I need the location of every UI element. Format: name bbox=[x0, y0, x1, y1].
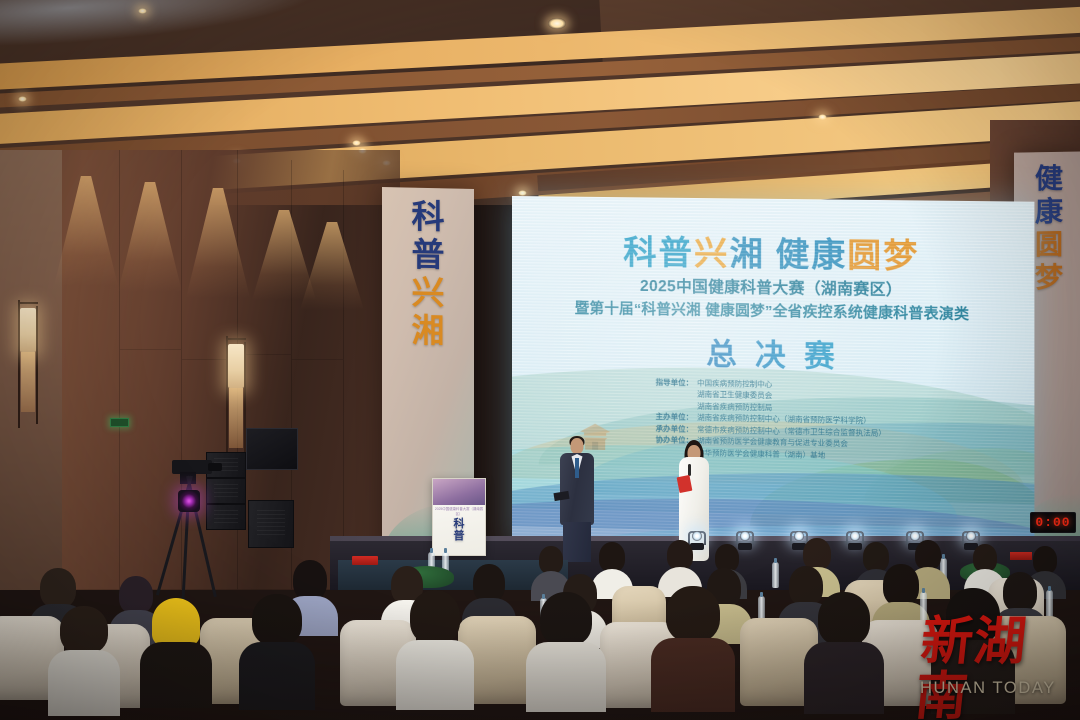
person-head bbox=[667, 540, 693, 570]
person-shoulders bbox=[140, 642, 212, 708]
person-head bbox=[818, 592, 870, 646]
person-head bbox=[539, 546, 563, 574]
person-head-yellow-hat bbox=[152, 598, 200, 646]
sconce-bar bbox=[18, 302, 38, 304]
watermark: 新湖南 HUNAN TODAY bbox=[918, 616, 1074, 712]
banner-char: 科 bbox=[412, 202, 445, 236]
title-segment: 健康 bbox=[776, 237, 848, 274]
host-head bbox=[571, 438, 584, 454]
host-necktie bbox=[575, 458, 579, 478]
downlight-icon bbox=[818, 114, 827, 120]
conference-hall-photo: 科 普 兴 湘 健 康 圆 梦 bbox=[0, 0, 1080, 720]
downlight-icon bbox=[18, 96, 27, 102]
wall-sconce bbox=[222, 336, 248, 464]
camera-lens-icon bbox=[208, 463, 222, 471]
person-shoulders bbox=[804, 642, 884, 714]
person-shoulders bbox=[239, 642, 315, 710]
audience-person bbox=[148, 598, 204, 708]
host-cue-card bbox=[677, 475, 693, 493]
person-head bbox=[666, 586, 720, 642]
person-head bbox=[883, 564, 919, 606]
title-segment: 兴 bbox=[694, 236, 730, 273]
downlight-icon bbox=[548, 18, 566, 29]
person-shoulders bbox=[526, 642, 606, 712]
led-par-light bbox=[178, 490, 200, 512]
person-head bbox=[1033, 546, 1057, 574]
sconce-shade bbox=[228, 344, 244, 388]
person-head bbox=[599, 542, 625, 572]
left-banner-characters: 科 普 兴 湘 bbox=[382, 201, 474, 350]
audience-person bbox=[56, 606, 112, 714]
banner-char: 圆 bbox=[1035, 232, 1063, 260]
audience-person bbox=[814, 592, 874, 712]
sconce-crystal bbox=[229, 388, 243, 448]
audience-person bbox=[662, 586, 724, 710]
banner-char: 康 bbox=[1035, 199, 1063, 227]
sconce-shade bbox=[20, 308, 36, 352]
banner-char: 健 bbox=[1035, 166, 1063, 194]
wall-sconce bbox=[14, 300, 40, 428]
sconce-frame bbox=[36, 306, 38, 424]
title-segment: 科普 bbox=[623, 235, 694, 272]
person-head bbox=[973, 544, 997, 572]
person-head bbox=[40, 568, 76, 608]
audience-person bbox=[248, 594, 306, 710]
banner-char: 梦 bbox=[1035, 265, 1063, 293]
title-segment: 圆梦 bbox=[847, 238, 919, 276]
standee-artwork bbox=[433, 479, 485, 505]
person-head bbox=[473, 564, 505, 602]
person-shoulders bbox=[651, 638, 735, 712]
watermark-chinese: 新湖南 bbox=[912, 616, 1079, 720]
title-segment: 湘 bbox=[729, 237, 765, 274]
downlight-icon bbox=[138, 8, 147, 14]
audience-person bbox=[536, 592, 596, 710]
person-head bbox=[60, 606, 108, 654]
person-head bbox=[252, 594, 302, 646]
sconce-bar bbox=[226, 338, 246, 340]
audience-person bbox=[406, 590, 464, 708]
downlight-icon bbox=[352, 140, 361, 146]
standee-header-text: 2025中国健康科普大赛（湖南赛区） bbox=[433, 507, 485, 517]
title-spacer bbox=[765, 237, 775, 274]
sconce-crystal bbox=[21, 352, 35, 412]
wall-monitor bbox=[246, 428, 298, 470]
banner-char: 兴 bbox=[412, 278, 445, 312]
person-head bbox=[1003, 572, 1037, 612]
slide-main-title: 科普兴湘 健康圆梦 bbox=[512, 224, 1034, 279]
person-shoulders bbox=[396, 640, 474, 710]
banner-char: 湘 bbox=[412, 316, 445, 350]
watermark-english: HUNAN TODAY bbox=[920, 679, 1076, 698]
banner-char: 普 bbox=[412, 240, 445, 274]
person-head bbox=[410, 590, 460, 644]
person-shoulders bbox=[48, 650, 120, 716]
exit-sign-icon bbox=[110, 418, 129, 427]
person-head bbox=[540, 592, 592, 646]
